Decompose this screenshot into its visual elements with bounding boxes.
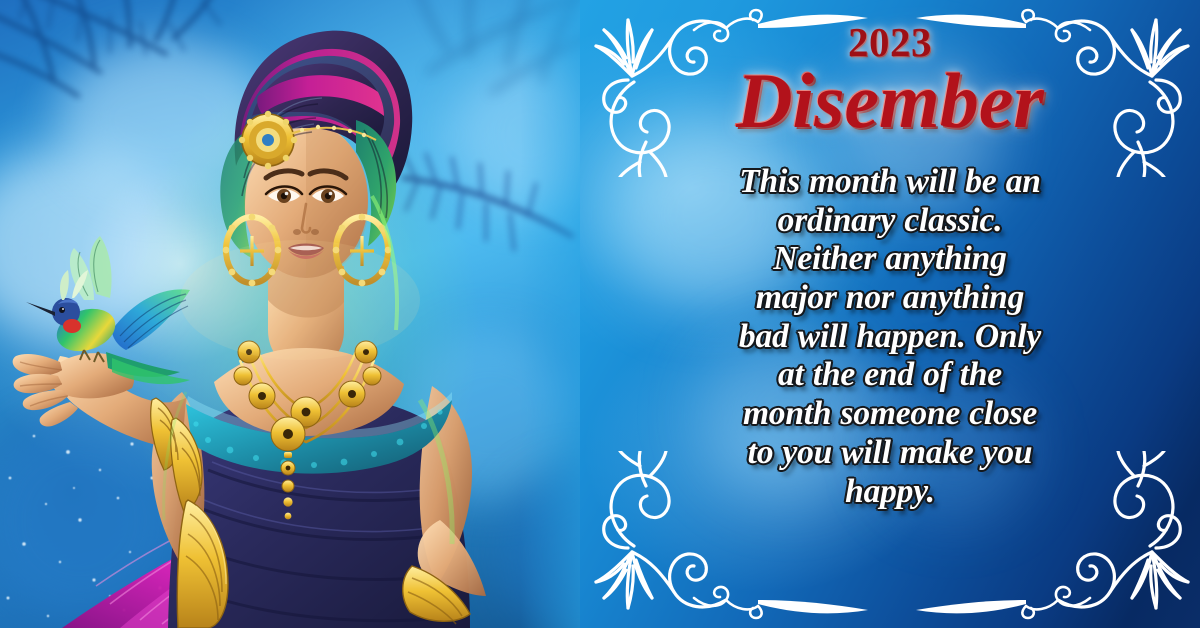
peacock-eye-feather: [254, 570, 350, 628]
sparkle-dust: [0, 348, 320, 628]
turban: [220, 31, 412, 258]
eye: [310, 187, 346, 204]
hoop-earring: [223, 214, 282, 287]
forecast-line: This month will be an: [739, 163, 1040, 200]
forecast-line: ordinary classic.: [778, 202, 1003, 239]
fortune-teller-figure: [0, 0, 600, 628]
bokeh-blob: [0, 420, 180, 620]
feather-plume: [62, 486, 360, 628]
pine-branch-icon: [0, 0, 270, 176]
pine-branch-icon: [320, 0, 600, 160]
bokeh-blob: [0, 150, 180, 340]
gold-disc-necklace: [234, 341, 381, 519]
forecast-line: major nor anything: [756, 279, 1024, 316]
bokeh-blob: [60, 40, 270, 200]
horoscope-poster: 2023 Disember This month will be an ordi…: [0, 0, 1200, 628]
turban-brooch: [239, 111, 297, 169]
divider-flourish-ornament: [692, 580, 1092, 624]
pine-branch-icon: [400, 150, 600, 300]
forecast-line: Neither anything: [773, 240, 1006, 277]
forecast-line: happy.: [845, 473, 935, 510]
gold-cuff-bracelet: [403, 566, 470, 624]
text-panel: 2023 Disember This month will be an ordi…: [580, 0, 1200, 628]
headline-block: 2023 Disember: [580, 0, 1200, 139]
forecast-text: This month will be an ordinary classic. …: [580, 163, 1200, 511]
gold-cuff-bracelet: [177, 500, 228, 628]
month-title: Disember: [658, 64, 1122, 139]
forecast-line: bad will happen. Only: [739, 318, 1041, 355]
hoop-earring: [333, 214, 392, 287]
gold-cuff-bracelet: [151, 398, 202, 512]
eye: [266, 187, 302, 204]
bokeh-blob: [400, 330, 580, 500]
hummingbird: [26, 236, 190, 384]
forecast-line: to you will make you: [748, 434, 1033, 471]
forecast-line: month someone close: [743, 395, 1037, 432]
bokeh-blob: [455, 60, 600, 210]
forecast-line: at the end of the: [778, 356, 1002, 393]
artwork-panel: [0, 0, 600, 628]
